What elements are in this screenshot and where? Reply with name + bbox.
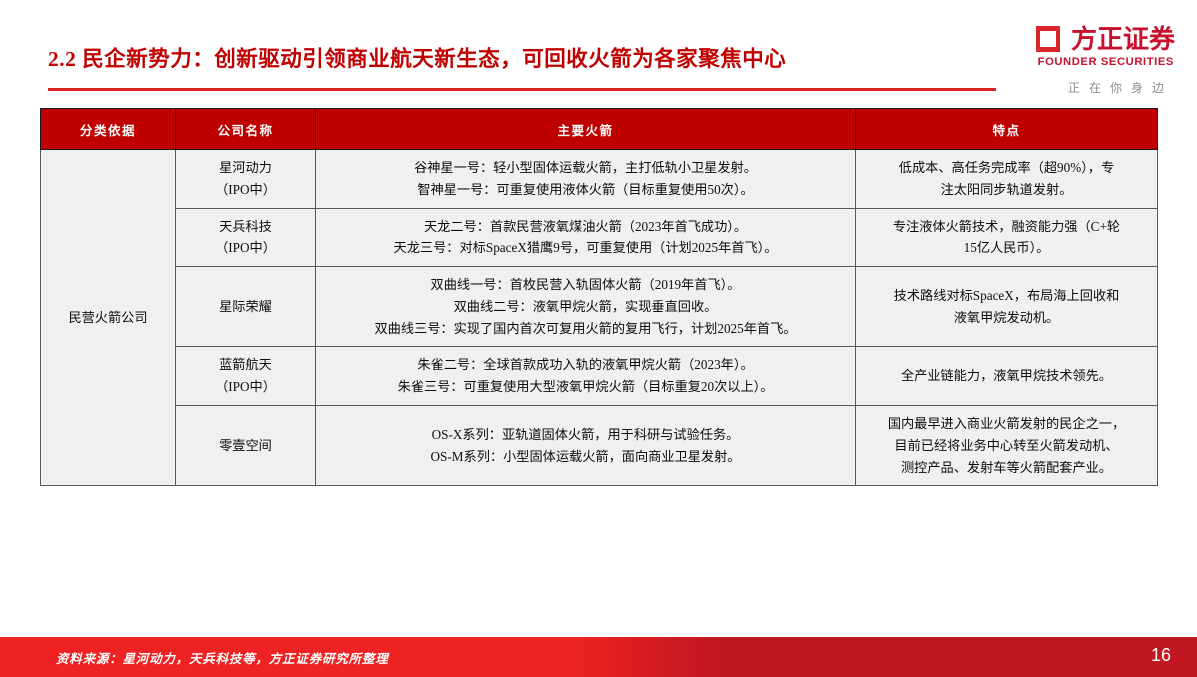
rocket-line: OS-X系列：亚轨道固体火箭，用于科研与试验任务。 (324, 424, 847, 446)
page-number: 16 (1151, 645, 1171, 666)
logo-chinese-name: 方正证券 (1071, 26, 1175, 52)
rocket-line: 天龙三号：对标SpaceX猎鹰9号，可重复使用（计划2025年首飞）。 (324, 237, 847, 259)
feature-cell: 国内最早进入商业火箭发射的民企之一， 目前已经将业务中心转至火箭发动机、 测控产… (856, 406, 1158, 486)
rocket-companies-table-wrap: 分类依据 公司名称 主要火箭 特点 民营火箭公司 星河动力 （IPO中） 谷神星… (40, 108, 1157, 486)
table-row: 民营火箭公司 星河动力 （IPO中） 谷神星一号：轻小型固体运载火箭，主打低轨小… (41, 150, 1158, 209)
rocket-line: OS-M系列：小型固体运载火箭，面向商业卫星发射。 (324, 446, 847, 468)
company-name-line: 蓝箭航天 (184, 354, 307, 376)
rocket-line: 智神星一号：可重复使用液体火箭（目标重复使用50次）。 (324, 179, 847, 201)
table-row: 天兵科技 （IPO中） 天龙二号：首款民营液氧煤油火箭（2023年首飞成功）。 … (41, 208, 1158, 267)
company-cell: 星河动力 （IPO中） (176, 150, 316, 209)
feature-cell: 低成本、高任务完成率（超90%），专 注太阳同步轨道发射。 (856, 150, 1158, 209)
company-status-line: （IPO中） (184, 237, 307, 259)
feature-line: 低成本、高任务完成率（超90%），专 (864, 157, 1149, 179)
logo-english-name: FOUNDER SECURITIES (975, 56, 1175, 68)
company-name-line: 天兵科技 (184, 216, 307, 238)
company-name-line: 星河动力 (184, 157, 307, 179)
company-cell: 天兵科技 （IPO中） (176, 208, 316, 267)
rocket-line: 天龙二号：首款民营液氧煤油火箭（2023年首飞成功）。 (324, 216, 847, 238)
feature-line: 技术路线对标SpaceX，布局海上回收和 (864, 285, 1149, 307)
feature-cell: 技术路线对标SpaceX，布局海上回收和 液氧甲烷发动机。 (856, 267, 1158, 347)
table-row: 零壹空间 OS-X系列：亚轨道固体火箭，用于科研与试验任务。 OS-M系列：小型… (41, 406, 1158, 486)
rockets-cell: 天龙二号：首款民营液氧煤油火箭（2023年首飞成功）。 天龙三号：对标Space… (316, 208, 856, 267)
column-header-features: 特点 (856, 109, 1158, 150)
feature-line: 15亿人民币）。 (864, 237, 1149, 259)
feature-line: 国内最早进入商业火箭发射的民企之一， (864, 413, 1149, 435)
title-underline-rule (48, 88, 996, 91)
rocket-line: 双曲线三号：实现了国内首次可复用火箭的复用飞行，计划2025年首飞。 (324, 318, 847, 340)
company-cell: 星际荣耀 (176, 267, 316, 347)
rockets-cell: 朱雀二号：全球首款成功入轨的液氧甲烷火箭（2023年）。 朱雀三号：可重复使用大… (316, 347, 856, 406)
rockets-cell: OS-X系列：亚轨道固体火箭，用于科研与试验任务。 OS-M系列：小型固体运载火… (316, 406, 856, 486)
table-row: 星际荣耀 双曲线一号：首枚民营入轨固体火箭（2019年首飞）。 双曲线二号：液氧… (41, 267, 1158, 347)
logo-tagline: 正在你身边 (975, 79, 1175, 96)
company-name-line: 零壹空间 (184, 435, 307, 457)
feature-line: 目前已经将业务中心转至火箭发动机、 (864, 435, 1149, 457)
category-group-cell: 民营火箭公司 (41, 150, 176, 486)
company-status-line: （IPO中） (184, 179, 307, 201)
rocket-companies-table: 分类依据 公司名称 主要火箭 特点 民营火箭公司 星河动力 （IPO中） 谷神星… (40, 108, 1158, 486)
page-title: 2.2 民企新势力：创新驱动引领商业航天新生态，可回收火箭为各家聚焦中心 (48, 42, 786, 73)
company-name-line: 星际荣耀 (184, 296, 307, 318)
footer-bar: 资料来源：星河动力，天兵科技等，方正证券研究所整理 16 (0, 637, 1197, 677)
feature-cell: 专注液体火箭技术，融资能力强（C+轮 15亿人民币）。 (856, 208, 1158, 267)
feature-line: 液氧甲烷发动机。 (864, 307, 1149, 329)
company-status-line: （IPO中） (184, 376, 307, 398)
rocket-line: 朱雀三号：可重复使用大型液氧甲烷火箭（目标重复20次以上）。 (324, 376, 847, 398)
table-row: 蓝箭航天 （IPO中） 朱雀二号：全球首款成功入轨的液氧甲烷火箭（2023年）。… (41, 347, 1158, 406)
company-cell: 蓝箭航天 （IPO中） (176, 347, 316, 406)
footer-source-note: 资料来源：星河动力，天兵科技等，方正证券研究所整理 (56, 648, 389, 667)
rockets-cell: 双曲线一号：首枚民营入轨固体火箭（2019年首飞）。 双曲线二号：液氧甲烷火箭，… (316, 267, 856, 347)
rocket-line: 双曲线二号：液氧甲烷火箭，实现垂直回收。 (324, 296, 847, 318)
rocket-line: 朱雀二号：全球首款成功入轨的液氧甲烷火箭（2023年）。 (324, 354, 847, 376)
column-header-rockets: 主要火箭 (316, 109, 856, 150)
feature-line: 专注液体火箭技术，融资能力强（C+轮 (864, 216, 1149, 238)
company-cell: 零壹空间 (176, 406, 316, 486)
feature-line: 全产业链能力，液氧甲烷技术领先。 (864, 365, 1149, 387)
feature-line: 注太阳同步轨道发射。 (864, 179, 1149, 201)
rocket-line: 谷神星一号：轻小型固体运载火箭，主打低轨小卫星发射。 (324, 157, 847, 179)
company-logo: 方正证券 FOUNDER SECURITIES 正在你身边 (975, 24, 1175, 96)
column-header-company: 公司名称 (176, 109, 316, 150)
feature-cell: 全产业链能力，液氧甲烷技术领先。 (856, 347, 1158, 406)
founder-securities-mark-icon (1030, 24, 1064, 54)
column-header-category: 分类依据 (41, 109, 176, 150)
rockets-cell: 谷神星一号：轻小型固体运载火箭，主打低轨小卫星发射。 智神星一号：可重复使用液体… (316, 150, 856, 209)
table-header-row: 分类依据 公司名称 主要火箭 特点 (41, 109, 1158, 150)
rocket-line: 双曲线一号：首枚民营入轨固体火箭（2019年首飞）。 (324, 274, 847, 296)
feature-line: 测控产品、发射车等火箭配套产业。 (864, 457, 1149, 479)
